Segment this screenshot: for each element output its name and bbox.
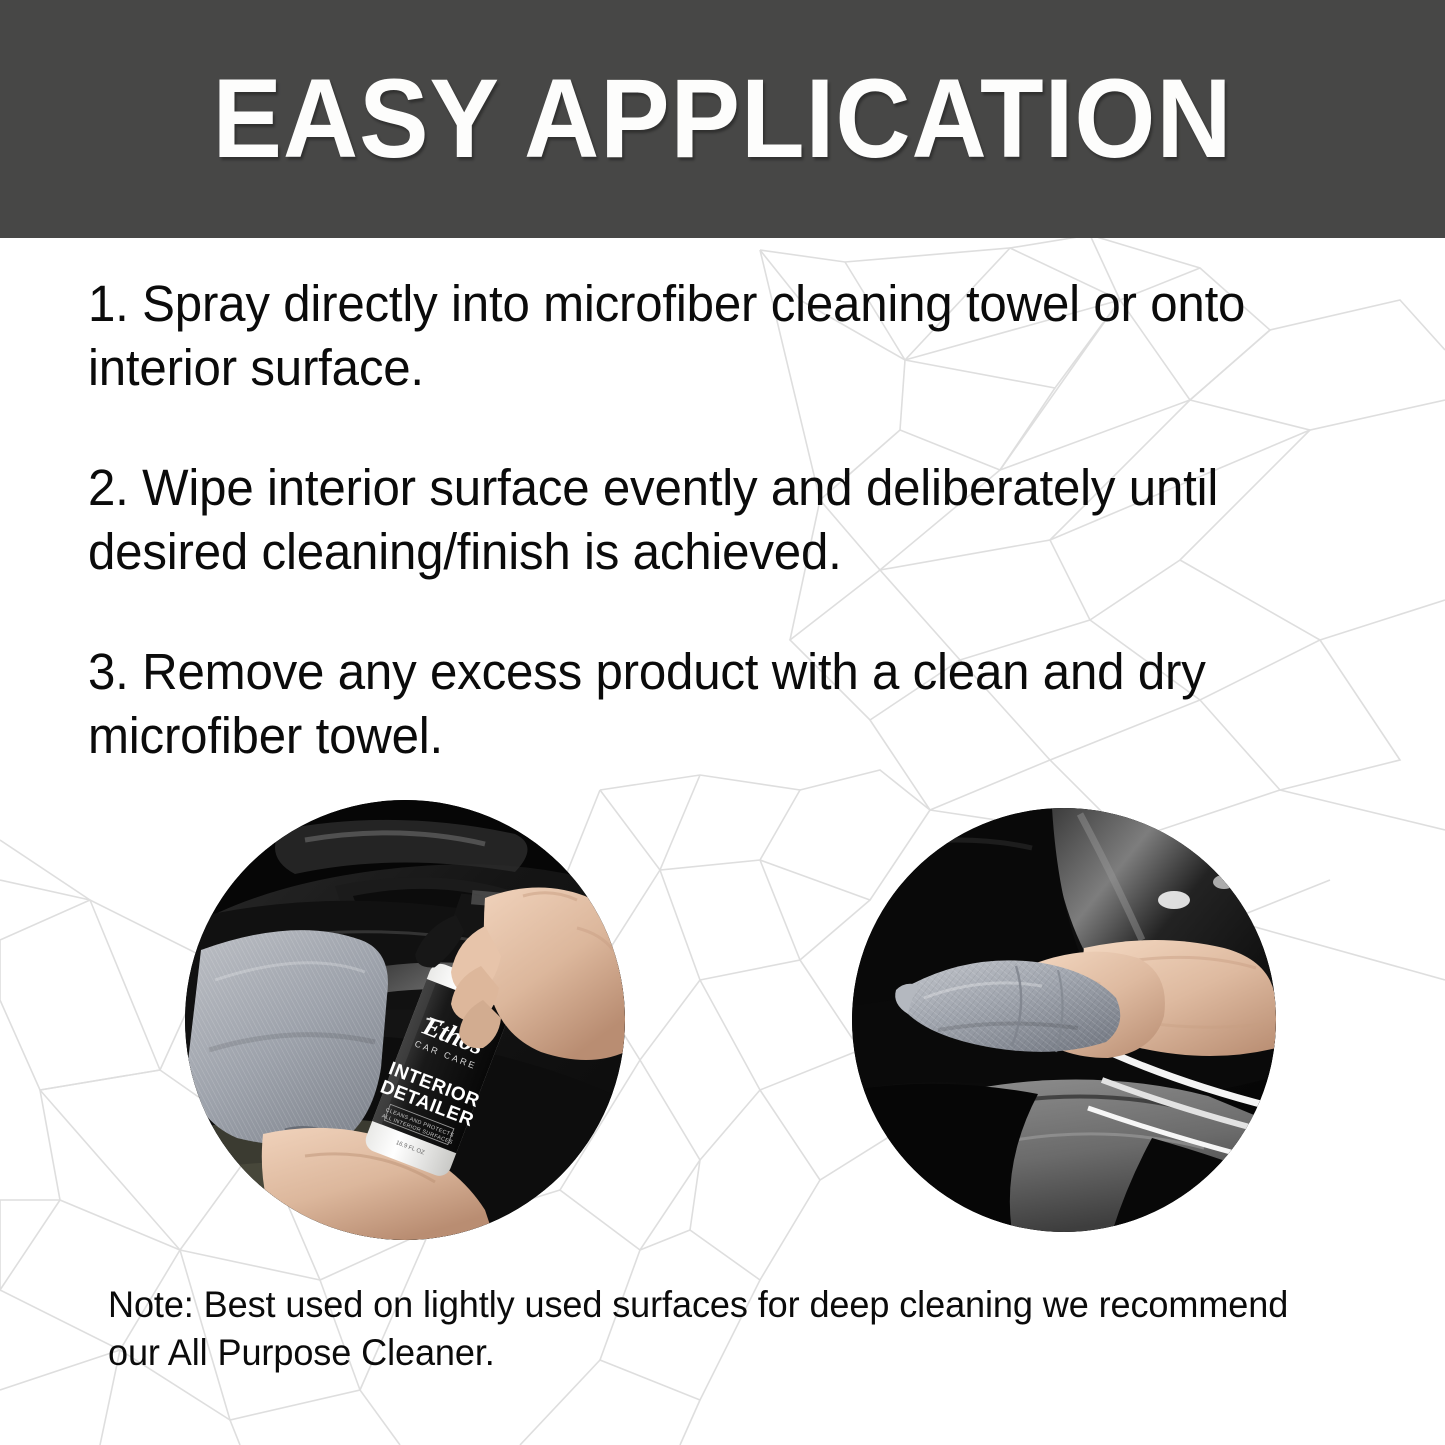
header-band: EASY APPLICATION: [0, 0, 1445, 238]
spray-application-photo: Ethos CAR CARE INTERIOR DETAILER CLEANS …: [185, 800, 625, 1240]
wipe-application-photo: [852, 808, 1276, 1232]
instruction-step-1: 1. Spray directly into microfiber cleani…: [88, 272, 1314, 400]
easy-application-infographic: EASY APPLICATION 1. Spray directly into …: [0, 0, 1445, 1445]
instruction-step-3: 3. Remove any excess product with a clea…: [88, 640, 1314, 768]
instruction-steps-list: 1. Spray directly into microfiber cleani…: [88, 272, 1358, 768]
footer-note: Note: Best used on lightly used surfaces…: [108, 1281, 1317, 1377]
page-title: EASY APPLICATION: [51, 60, 1395, 178]
instruction-step-2: 2. Wipe interior surface evently and del…: [88, 456, 1314, 584]
